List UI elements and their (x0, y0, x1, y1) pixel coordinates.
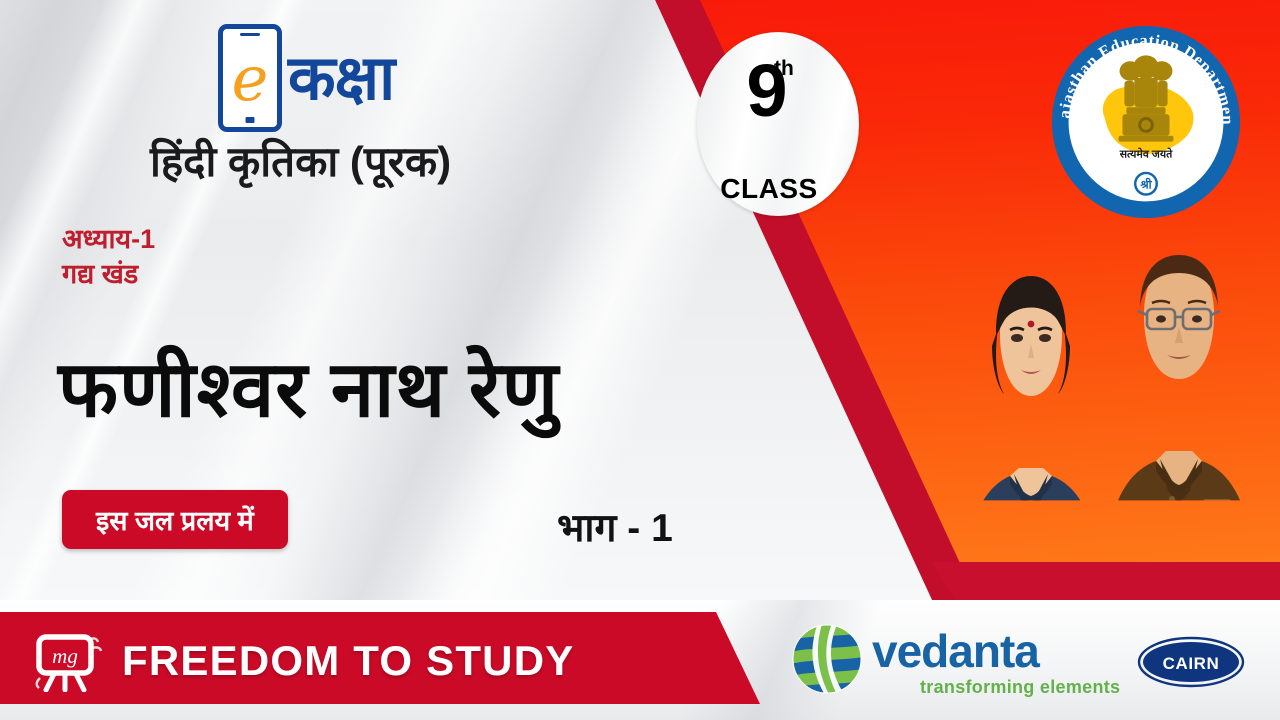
page-title: फणीश्वर नाथ रेणु (58, 333, 559, 439)
chapter-section: गद्य खंड (62, 257, 155, 292)
chapter-label: अध्याय-1 गद्य खंड (62, 222, 155, 291)
thumbnail-canvas: e कक्षा हिंदी कृतिका (पूरक) अध्याय-1 गद्… (0, 0, 1280, 720)
vedanta-logo: vedanta transforming elements (790, 622, 1120, 696)
seal-motto: सत्यमेव जयते (1119, 147, 1173, 160)
mg-logo-icon: mg (30, 632, 106, 692)
vedanta-tagline: transforming elements (920, 678, 1120, 696)
subject-title: हिंदी कृतिका (पूरक) (150, 132, 451, 189)
svg-text:श्री: श्री (1139, 178, 1152, 192)
class-number: 9 (722, 54, 812, 128)
vedanta-name: vedanta (872, 628, 1120, 674)
cairn-logo: CAIRN (1136, 636, 1246, 688)
class-number-suffix: th (774, 57, 794, 81)
logo-word-kaksha: कक्षा (288, 48, 394, 110)
logo-letter-e: e (232, 48, 269, 110)
cairn-name: CAIRN (1163, 654, 1220, 673)
footer-tagline: FREEDOM TO STUDY (122, 637, 574, 685)
smartphone-icon: e (218, 24, 282, 132)
svg-text:mg: mg (52, 644, 78, 668)
topic-badge: इस जल प्रलय में (62, 490, 288, 549)
chapter-number: अध्याय-1 (62, 222, 155, 257)
part-label: भाग - 1 (557, 500, 673, 553)
class-word-label: CLASS (698, 173, 840, 205)
ekaksha-logo: e कक्षा (218, 24, 394, 132)
rajasthan-education-department-seal: सत्यमेव जयते श्री Rajasthan Education De… (1048, 22, 1244, 222)
vedanta-globe-icon (790, 622, 864, 696)
